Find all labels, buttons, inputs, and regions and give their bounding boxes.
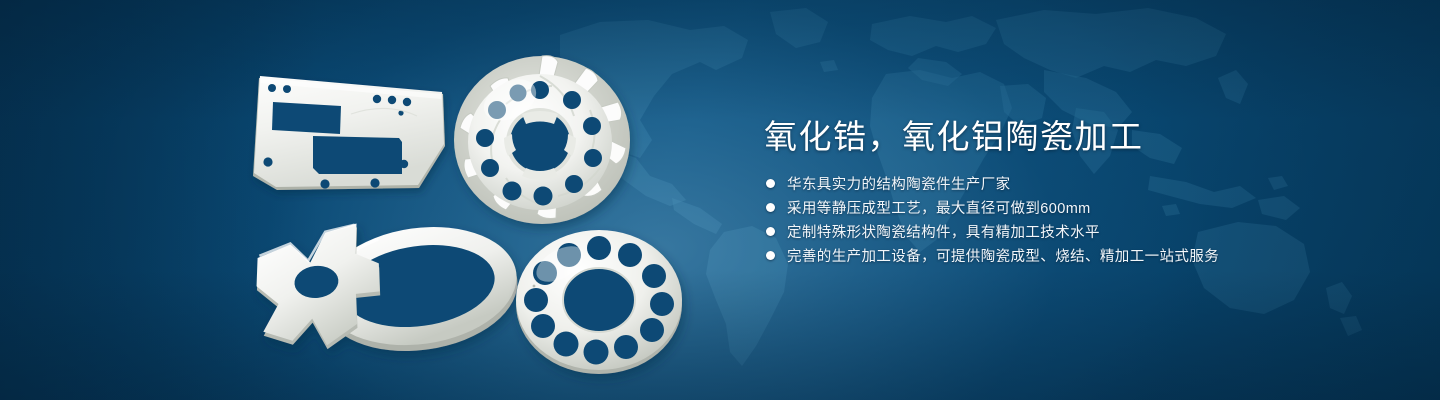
bullet-dot-icon	[766, 203, 775, 212]
list-item: 完善的生产加工设备，可提供陶瓷成型、烧结、精加工一站式服务	[766, 244, 1219, 266]
page-title: 氧化锆，氧化铝陶瓷加工	[764, 110, 1144, 158]
feature-text: 采用等静压成型工艺，最大直径可做到600mm	[787, 197, 1091, 218]
banner-text-block: 氧化锆，氧化铝陶瓷加工 华东具实力的结构陶瓷件生产厂家 采用等静压成型工艺，最大…	[764, 0, 1324, 400]
hero-banner: 氧化锆，氧化铝陶瓷加工 华东具实力的结构陶瓷件生产厂家 采用等静压成型工艺，最大…	[0, 0, 1440, 400]
bullet-dot-icon	[766, 227, 775, 236]
list-item: 定制特殊形状陶瓷结构件，具有精加工技术水平	[766, 220, 1219, 242]
feature-list: 华东具实力的结构陶瓷件生产厂家 采用等静压成型工艺，最大直径可做到600mm 定…	[766, 172, 1219, 268]
feature-text: 定制特殊形状陶瓷结构件，具有精加工技术水平	[787, 221, 1100, 242]
feature-text: 华东具实力的结构陶瓷件生产厂家	[787, 173, 1011, 194]
list-item: 采用等静压成型工艺，最大直径可做到600mm	[766, 196, 1219, 218]
bullet-dot-icon	[766, 251, 775, 260]
bullet-dot-icon	[766, 179, 775, 188]
feature-text: 完善的生产加工设备，可提供陶瓷成型、烧结、精加工一站式服务	[787, 245, 1219, 266]
list-item: 华东具实力的结构陶瓷件生产厂家	[766, 172, 1219, 194]
